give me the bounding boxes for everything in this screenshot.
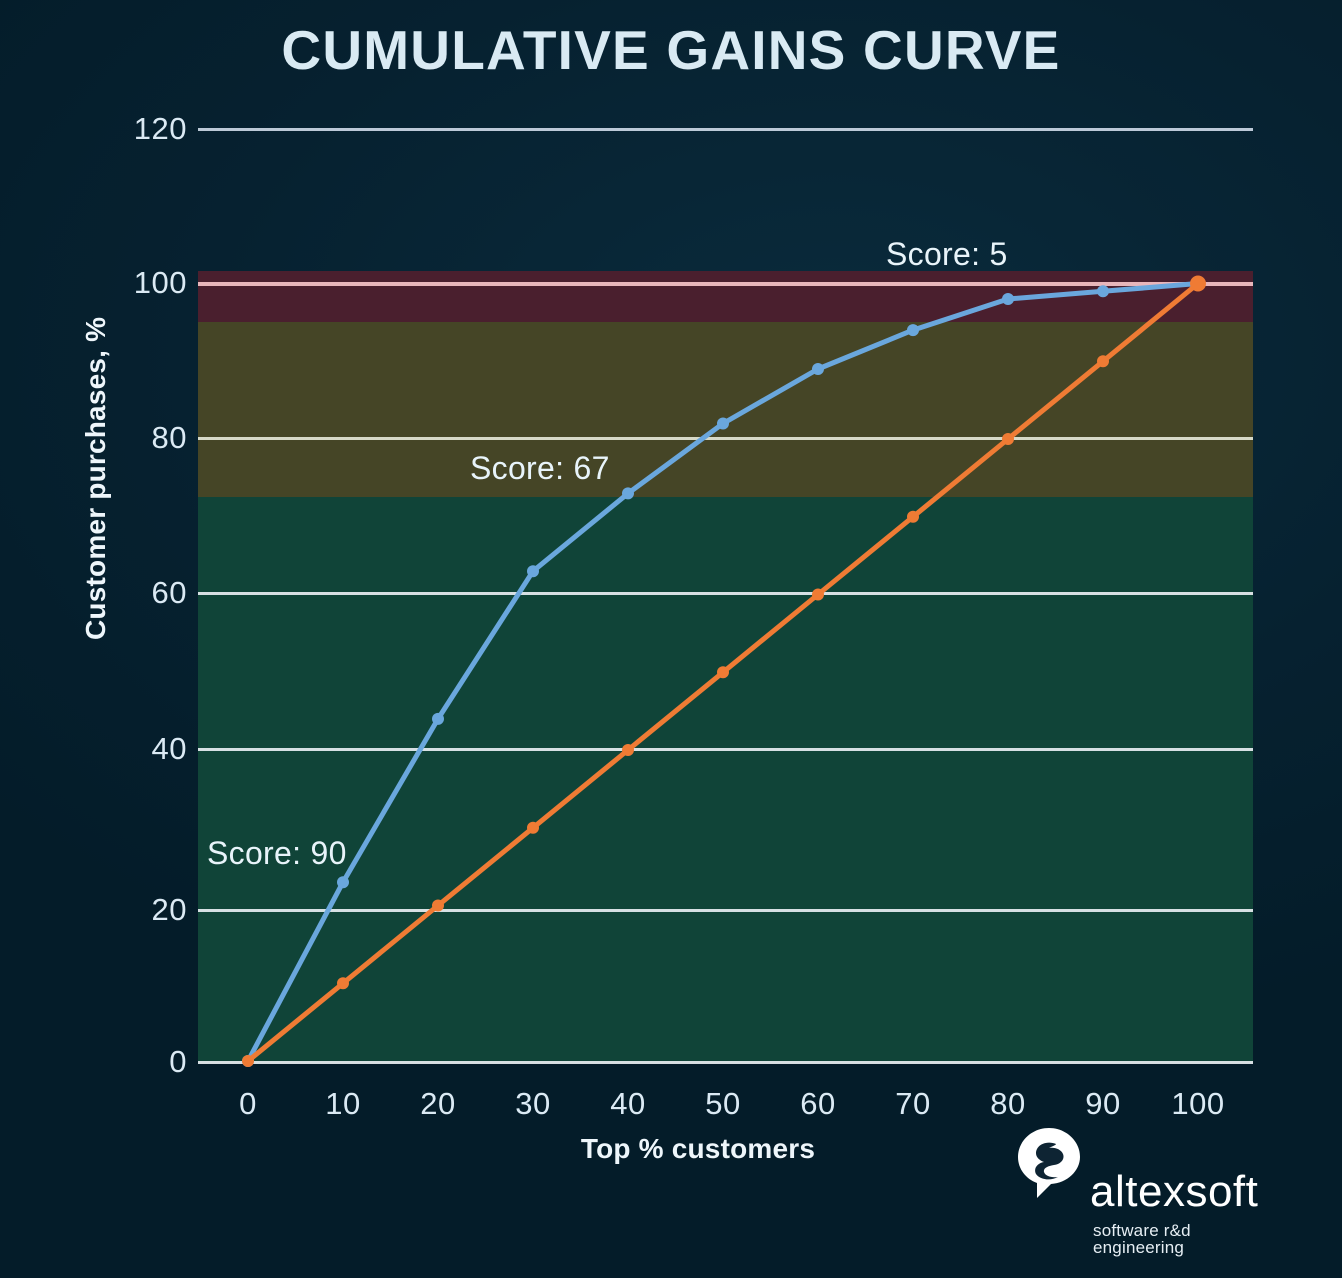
y-tick-20: 20 [152, 892, 187, 928]
y-axis-label: Customer purchases, % [80, 317, 112, 640]
x-tick-70: 70 [895, 1086, 930, 1122]
data-point [527, 565, 539, 577]
data-point [907, 511, 919, 523]
y-tick-60: 60 [152, 575, 187, 611]
x-tick-0: 0 [239, 1086, 257, 1122]
y-tick-0: 0 [169, 1044, 187, 1080]
x-tick-100: 100 [1171, 1086, 1224, 1122]
x-tick-80: 80 [990, 1086, 1025, 1122]
data-point [1002, 293, 1014, 305]
annotation-score-67: Score: 67 [470, 450, 610, 487]
logo-tagline: software r&d engineering [1093, 1222, 1278, 1256]
data-point [432, 713, 444, 725]
data-point [717, 666, 729, 678]
y-tick-40: 40 [152, 731, 187, 767]
altexsoft-logo-icon [1018, 1128, 1080, 1198]
x-tick-60: 60 [800, 1086, 835, 1122]
data-point [1002, 433, 1014, 445]
data-point [907, 324, 919, 336]
data-point [812, 589, 824, 601]
x-tick-50: 50 [705, 1086, 740, 1122]
plot-area: 120 100 80 60 40 20 0 0 10 20 30 40 50 6… [198, 120, 1253, 1070]
annotation-score-5: Score: 5 [886, 236, 1008, 273]
annotation-score-90: Score: 90 [207, 835, 347, 872]
y-tick-100: 100 [134, 265, 187, 301]
data-point [1097, 355, 1109, 367]
page-title: CUMULATIVE GAINS CURVE [0, 18, 1342, 82]
data-point [337, 977, 349, 989]
data-point [812, 363, 824, 375]
data-point [1190, 276, 1206, 292]
data-point [337, 876, 349, 888]
x-tick-30: 30 [515, 1086, 550, 1122]
data-point [242, 1055, 254, 1067]
chart-canvas: CUMULATIVE GAINS CURVE 120 100 80 60 40 … [0, 0, 1342, 1278]
x-tick-40: 40 [610, 1086, 645, 1122]
data-point [1097, 285, 1109, 297]
data-point [622, 744, 634, 756]
x-tick-20: 20 [420, 1086, 455, 1122]
y-tick-120: 120 [134, 111, 187, 147]
altexsoft-logo: altexsoft software r&d engineering [1018, 1128, 1278, 1258]
data-curves [198, 120, 1253, 1070]
data-point [432, 900, 444, 912]
data-point [717, 418, 729, 430]
data-point [527, 822, 539, 834]
y-tick-80: 80 [152, 420, 187, 456]
x-tick-10: 10 [325, 1086, 360, 1122]
data-point [622, 487, 634, 499]
logo-wordmark: altexsoft [1090, 1170, 1258, 1214]
x-tick-90: 90 [1085, 1086, 1120, 1122]
